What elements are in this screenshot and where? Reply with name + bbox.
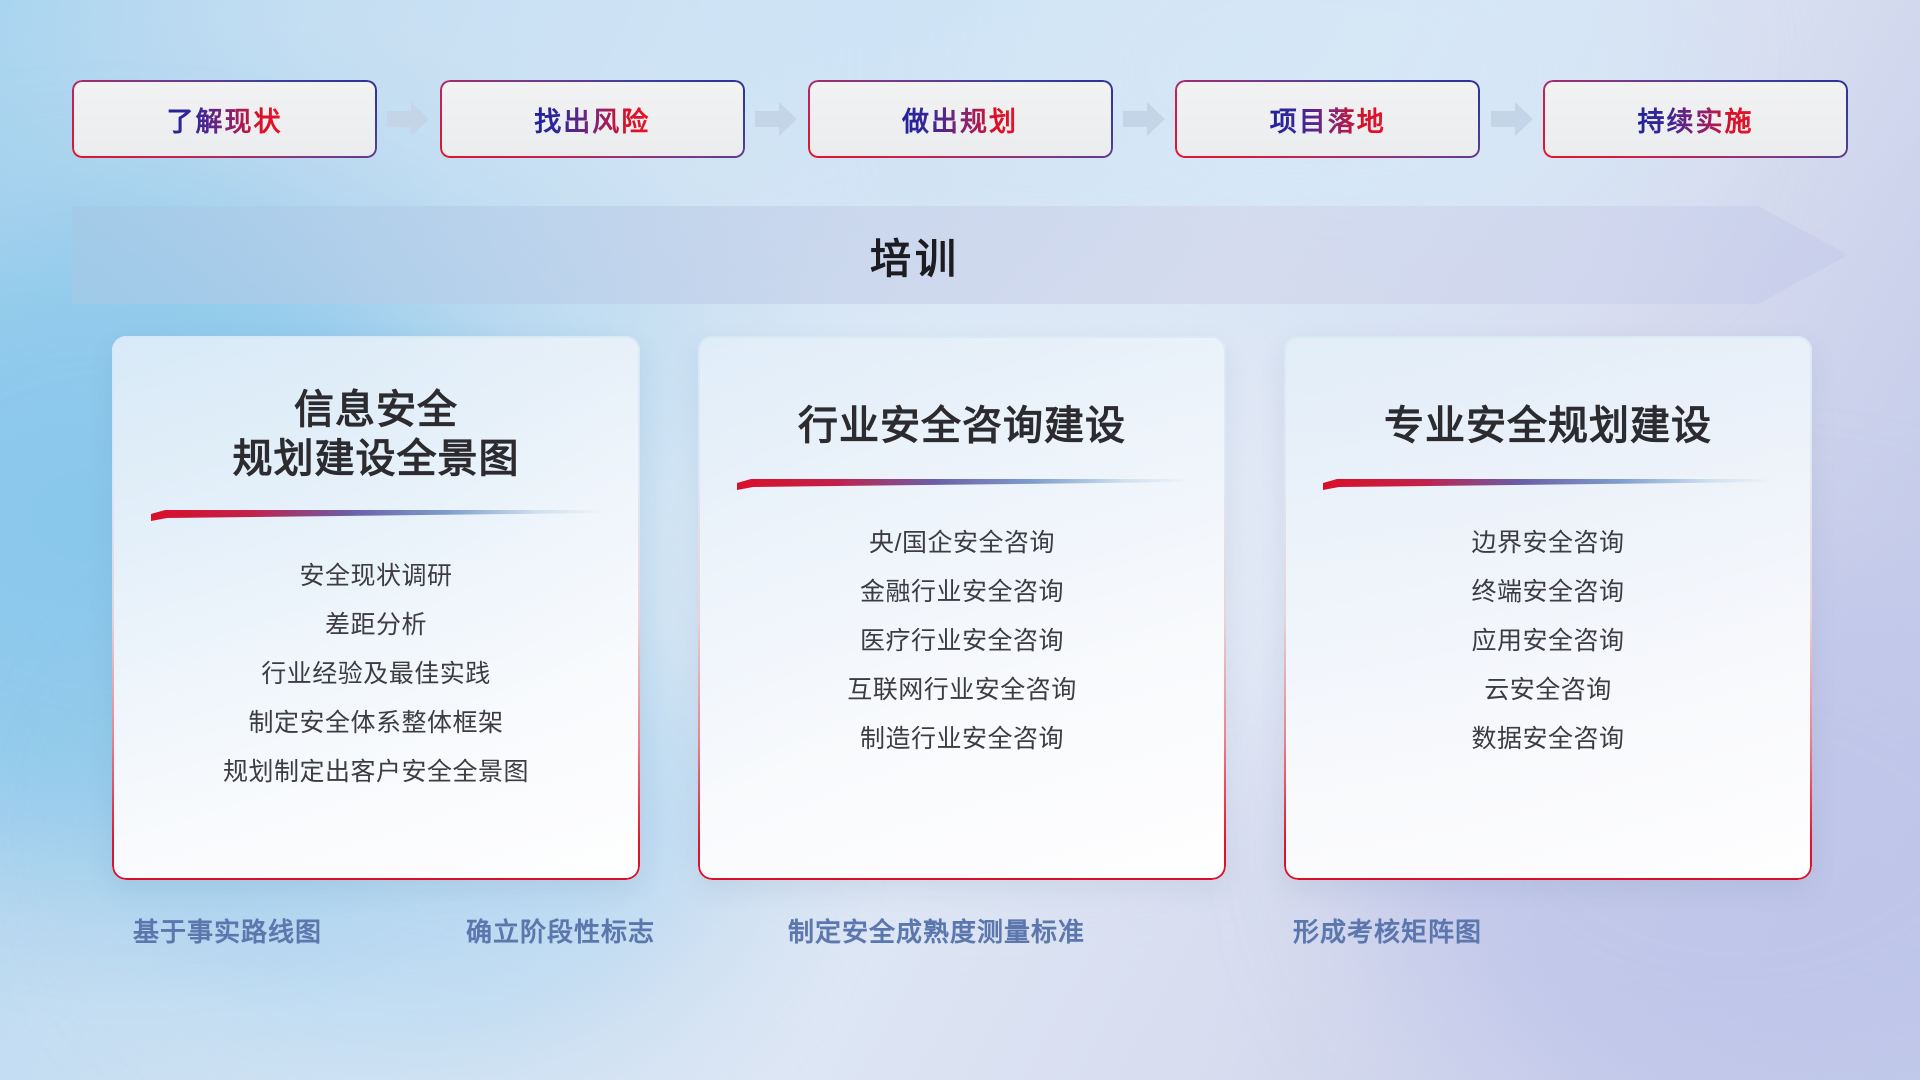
step-label-1: 了解现状 — [167, 100, 283, 139]
list-item: 金融行业安全咨询 — [860, 572, 1064, 613]
card-title: 专业安全规划建设 — [1384, 402, 1712, 451]
step-box-1[interactable]: 了解现状 — [72, 80, 377, 158]
step-label-3: 做出规划 — [902, 100, 1018, 139]
step-box-3[interactable]: 做出规划 — [808, 80, 1113, 158]
card-title: 行业安全咨询建设 — [798, 402, 1126, 451]
card-divider-rule — [1323, 479, 1773, 491]
card-information-security-blueprint[interactable]: 信息安全 规划建设全景图 — [112, 336, 640, 880]
list-item: 安全现状调研 — [299, 556, 452, 597]
list-item: 云安全咨询 — [1484, 670, 1612, 711]
step-box-2[interactable]: 找出风险 — [440, 80, 745, 158]
step-label-2: 找出风险 — [534, 100, 650, 139]
step-box-5[interactable]: 持续实施 — [1543, 80, 1848, 158]
list-item: 央/国企安全咨询 — [869, 523, 1055, 564]
training-banner: 培训 — [72, 206, 1848, 304]
list-item: 制造行业安全咨询 — [860, 719, 1064, 760]
card-list: 央/国企安全咨询 金融行业安全咨询 医疗行业安全咨询 互联网行业安全咨询 制造行… — [720, 523, 1204, 760]
step-label-4: 项目落地 — [1270, 100, 1386, 139]
card-professional-security-planning[interactable]: 专业安全规划建设 — [1284, 336, 1812, 880]
footer-caption: 形成考核矩阵图 — [1293, 912, 1482, 949]
list-item: 边界安全咨询 — [1471, 523, 1624, 564]
footer-caption: 基于事实路线图 — [133, 912, 322, 949]
list-item: 互联网行业安全咨询 — [847, 670, 1077, 711]
footer-caption: 制定安全成熟度测量标准 — [788, 912, 1085, 949]
card-list: 边界安全咨询 终端安全咨询 应用安全咨询 云安全咨询 数据安全咨询 — [1306, 523, 1790, 760]
banner-title: 培训 — [72, 206, 1848, 304]
card-divider-rule — [737, 479, 1187, 491]
arrow-right-icon — [1123, 102, 1165, 136]
footer-caption: 确立阶段性标志 — [466, 912, 655, 949]
card-divider-rule — [151, 510, 601, 522]
arrow-right-icon — [387, 102, 429, 136]
step-label-5: 持续实施 — [1638, 100, 1754, 139]
card-title: 信息安全 规划建设全景图 — [233, 386, 520, 484]
list-item: 医疗行业安全咨询 — [860, 621, 1064, 662]
arrow-right-icon — [755, 102, 797, 136]
step-box-4[interactable]: 项目落地 — [1175, 80, 1480, 158]
list-item: 制定安全体系整体框架 — [248, 703, 503, 744]
footer-caption-row: 基于事实路线图 确立阶段性标志 制定安全成熟度测量标准 形成考核矩阵图 — [0, 912, 1920, 964]
card-list: 安全现状调研 差距分析 行业经验及最佳实践 制定安全体系整体框架 规划制定出客户… — [134, 556, 618, 793]
list-item: 应用安全咨询 — [1471, 621, 1624, 662]
list-item: 差距分析 — [325, 605, 427, 646]
list-item: 终端安全咨询 — [1471, 572, 1624, 613]
card-industry-security-consulting[interactable]: 行业安全咨询建设 — [698, 336, 1226, 880]
card-row: 信息安全 规划建设全景图 — [112, 336, 1812, 880]
process-step-row: 了解现状 找出风险 做出规划 项目落地 — [72, 80, 1848, 158]
arrow-right-icon — [1491, 102, 1533, 136]
list-item: 数据安全咨询 — [1471, 719, 1624, 760]
list-item: 规划制定出客户安全全景图 — [223, 752, 529, 793]
slide-root: 了解现状 找出风险 做出规划 项目落地 — [0, 0, 1920, 1080]
list-item: 行业经验及最佳实践 — [261, 654, 491, 695]
